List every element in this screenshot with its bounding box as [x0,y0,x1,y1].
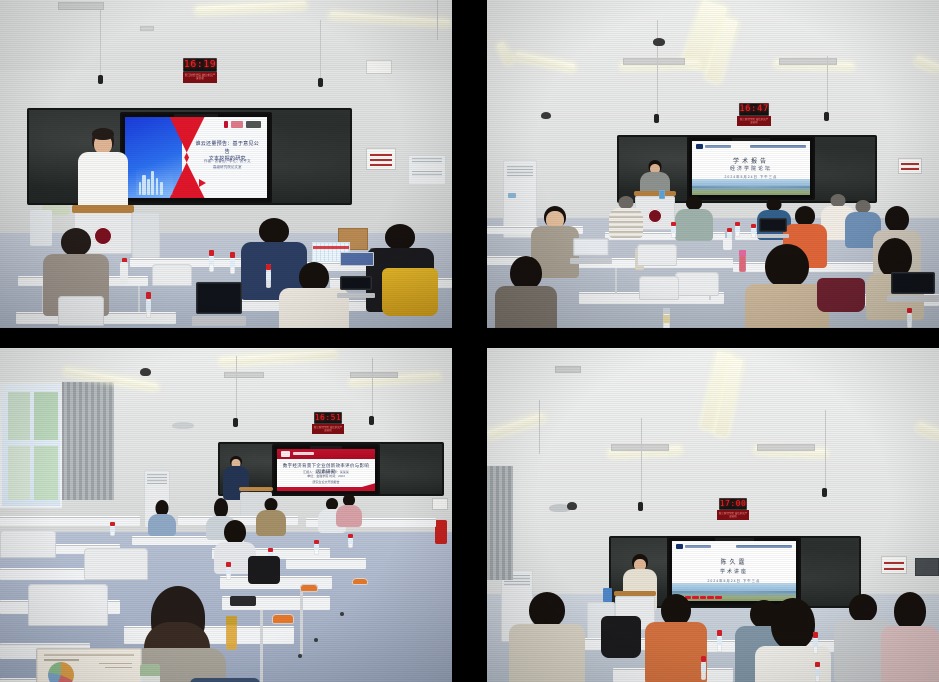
clock-banner-text: 浙江财经学院 诚信求实严谨创新 [314,426,343,431]
student [336,494,362,526]
clock-banner-text: 浙江财经学院 诚信求实严谨创新 [185,75,216,81]
podium-side-cabinet [132,212,160,258]
ceiling-vent [555,366,581,373]
mic-cable [827,56,828,114]
hanging-microphone [822,488,827,497]
chair-seat [300,584,318,592]
slide-bottom-bar [277,487,375,491]
ceiling-vent [350,372,398,378]
hanging-microphone [98,75,103,84]
curtain [487,466,513,580]
chair-caster [298,654,302,658]
thermos [120,262,128,284]
attendee [609,196,643,236]
clock-time: 17:00 [720,500,747,508]
clock-banner: 浙江财经学院 诚信求实严谨创新 [737,116,771,126]
curtain [58,382,114,500]
chair-seat [272,614,294,624]
desk-leg [138,286,140,312]
classroom-scene-2: 16:47 浙江财经学院 诚信求实严谨创新 学术报告 经济学院论坛 2024年5… [487,0,939,328]
slide-subtitle: 经济学院论坛 [692,165,810,172]
slide-white-river: 学术报告 经济学院论坛 2024年5月24日 下午三点 [692,141,810,195]
water-bottle [671,222,676,238]
wall-sign [366,60,392,74]
water-bottle [348,534,353,548]
slide-subtitle: 学术讲座 [672,568,796,575]
ceiling-camera [567,502,577,510]
slide-canvas: 数字经济背景下企业创新效率评价与影响因素研究 汇报人：某某某 指导教师：某某某 … [277,449,375,491]
water-bottle [813,632,818,654]
clock-banner-text: 浙江财经学院 诚信求实严谨创新 [739,118,770,123]
slide-red-report: 数字经济背景下企业创新效率评价与影响因素研究 汇报人：某某某 指导教师：某某某 … [277,449,375,491]
ceiling-vent [58,2,104,10]
hanging-microphone [824,112,829,121]
chair [28,584,108,626]
laptop [759,218,787,238]
wall-vent [408,155,446,185]
chair-caster [314,638,318,642]
clock-time: 16:51 [315,414,342,422]
water-bottle [110,522,115,536]
blue-cup [603,588,612,602]
mic-cable [320,20,321,78]
hanging-microphone [638,502,643,511]
student [256,498,286,534]
chair [639,276,679,300]
slide-institution-logo [224,121,261,127]
hanging-microphone [233,418,238,427]
ceiling-vent [140,26,154,31]
chair [637,244,677,266]
attendee [675,196,713,238]
water-bottle [815,662,820,682]
water-bottle [209,250,214,272]
slide-logo-left [696,144,731,149]
slide-canvas: 陈久霆 学术讲座 2024年5月24日 下午三点 [672,541,796,601]
clock-time: 16:19 [184,60,217,70]
laptop [573,238,609,264]
classroom-scene-4: 17:00 浙江财经学院 诚信求实严谨创新 陈久霆 学术讲座 2024年5月24… [487,348,939,682]
water-bottle [663,308,670,328]
wall-sign [881,556,907,574]
clock-banner: 浙江财经学院 诚信求实严谨创新 [717,510,749,520]
desk [286,558,366,569]
handbag [248,556,280,584]
digital-clock: 16:19 [183,58,217,72]
thermos-bottle [140,664,160,682]
mic-cable [539,400,540,454]
ceiling-vent [623,58,685,65]
mic-cable [825,410,826,488]
nameplate [340,252,374,266]
classroom-scene-1: 16:19 浙江财经学院 诚信求实严谨创新 [0,0,452,328]
juice-bottle [226,616,237,650]
desk-leg [615,268,617,294]
desk [0,516,140,526]
chair [152,264,192,286]
institution-seal [648,209,662,223]
ceiling-vent [224,372,264,378]
laptop [340,276,372,298]
water-bottle [230,252,235,274]
water-bottle [146,292,151,318]
mic-cable [100,10,101,75]
maroon-jacket [817,278,865,312]
clock-banner-text: 浙江财经学院 诚信求实严谨创新 [719,512,748,517]
slide-white-river: 陈久霆 学术讲座 2024年5月24日 下午三点 [672,541,796,601]
slide-title: 陈久霆 [672,557,796,566]
photo-collage: 16:19 浙江财经学院 诚信求实严谨创新 [0,0,939,682]
slide-red-blue: 谁云还量预告：基于意见公告 文本挖掘的研究 作者：张春山、李江、张子文 高级研究… [125,117,267,198]
wall-sign [432,498,448,510]
slide-subtitle: 作者：张春山、李江、张子文 高级研究院论文室 [193,159,261,171]
clock-banner: 浙江财经学院 诚信求实严谨创新 [312,424,344,434]
chair [675,272,719,296]
ceiling-camera [140,368,151,376]
play-triangle-icon [199,179,206,187]
digital-clock: 16:47 [739,103,769,116]
photo-top-left[interactable]: 16:19 浙江财经学院 诚信求实严谨创新 [0,0,452,328]
mic-cable [437,0,438,40]
ceiling-vent [779,58,837,65]
attendee [881,592,939,682]
water-bottle [701,656,706,680]
clock-banner: 浙江财经学院 诚信求实严谨创新 [183,72,217,83]
water-bottle [735,222,740,237]
chair [58,296,104,326]
slide-canvas: 学术报告 经济学院论坛 2024年5月24日 下午三点 [692,141,810,195]
slide-line-3: 研究生论文开题报告 [287,480,365,484]
phone [230,596,256,606]
water-bottle [751,224,756,238]
mic-cable [236,356,237,418]
desk-leg [260,610,263,682]
laptop [891,272,935,302]
water-bottle [266,264,271,288]
wall-display[interactable]: 数字经济背景下企业创新效率评价与影响因素研究 汇报人：某某某 指导教师：某某某 … [272,444,380,496]
wall-display[interactable]: 谁云还量预告：基于意见公告 文本挖掘的研究 作者：张春山、李江、张子文 高级研究… [120,112,272,203]
wall-display[interactable]: 学术报告 经济学院论坛 2024年5月24日 下午三点 [687,136,815,200]
black-backpack [601,616,641,658]
laptop [196,282,242,326]
hanging-microphone [369,416,374,425]
ceiling-vent [757,444,815,451]
wall-sign [915,558,939,576]
ceiling-camera [541,112,551,119]
classroom-scene-3: 16:51 浙江财经学院 诚信求实严谨创新 数字经济背景下企业创新效率评价与影响… [0,348,452,682]
laptop-with-chart [36,648,142,682]
water-bottle [717,630,722,652]
hanging-microphone [318,78,323,87]
podium-top [72,205,135,213]
water-bottle [907,308,912,328]
attendee [509,592,585,682]
mic-cable [641,418,642,502]
ceiling-camera [172,422,194,429]
presenter-torso [78,152,128,212]
wall-sign [366,148,396,170]
fire-extinguisher [435,520,447,544]
hanging-microphone [654,114,659,123]
slide-canvas: 谁云还量预告：基于意见公告 文本挖掘的研究 作者：张春山、李江、张子文 高级研究… [125,117,267,198]
slide-header-band [277,449,375,459]
mic-cable [372,358,373,416]
window [0,382,62,508]
paper-cup [723,238,732,250]
photo-top-right[interactable]: 16:47 浙江财经学院 诚信求实严谨创新 学术报告 经济学院论坛 2024年5… [487,0,939,328]
mic-cable [657,46,658,114]
yellow-backpack [382,268,438,316]
wall-sign [898,158,922,174]
slide-institution-crest [281,451,314,457]
attendee [495,256,557,328]
digital-clock: 17:00 [719,498,747,510]
slide-logo-left [676,544,711,549]
desk-leg [300,588,303,654]
water-bottle [226,562,231,580]
chair [84,548,148,580]
clock-time: 16:47 [739,105,769,114]
photo-bottom-right[interactable]: 17:00 浙江财经学院 诚信求实严谨创新 陈久霆 学术讲座 2024年5月24… [487,348,939,682]
chair [0,530,56,558]
chair-seat [352,578,368,585]
photo-bottom-left[interactable]: 16:51 浙江财经学院 诚信求实严谨创新 数字经济背景下企业创新效率评价与影响… [0,348,452,682]
jeans [190,678,260,682]
slide-city-graphic [136,167,173,195]
water-bottle [739,250,746,272]
slide-logo-right [750,144,806,149]
water-bottle [314,540,319,555]
ceiling-camera [653,38,665,46]
ceiling-vent [611,444,669,451]
attendee [645,594,707,682]
slide-logo-right [736,544,792,549]
slide-title: 学术报告 [692,156,810,165]
chair-caster [340,612,344,616]
slide-line-2: 单位：金融学院 时间：2024 [287,474,365,478]
water-cup [659,190,665,199]
student [148,500,176,534]
digital-clock: 16:51 [314,412,342,424]
slide-river-photo [692,179,810,195]
